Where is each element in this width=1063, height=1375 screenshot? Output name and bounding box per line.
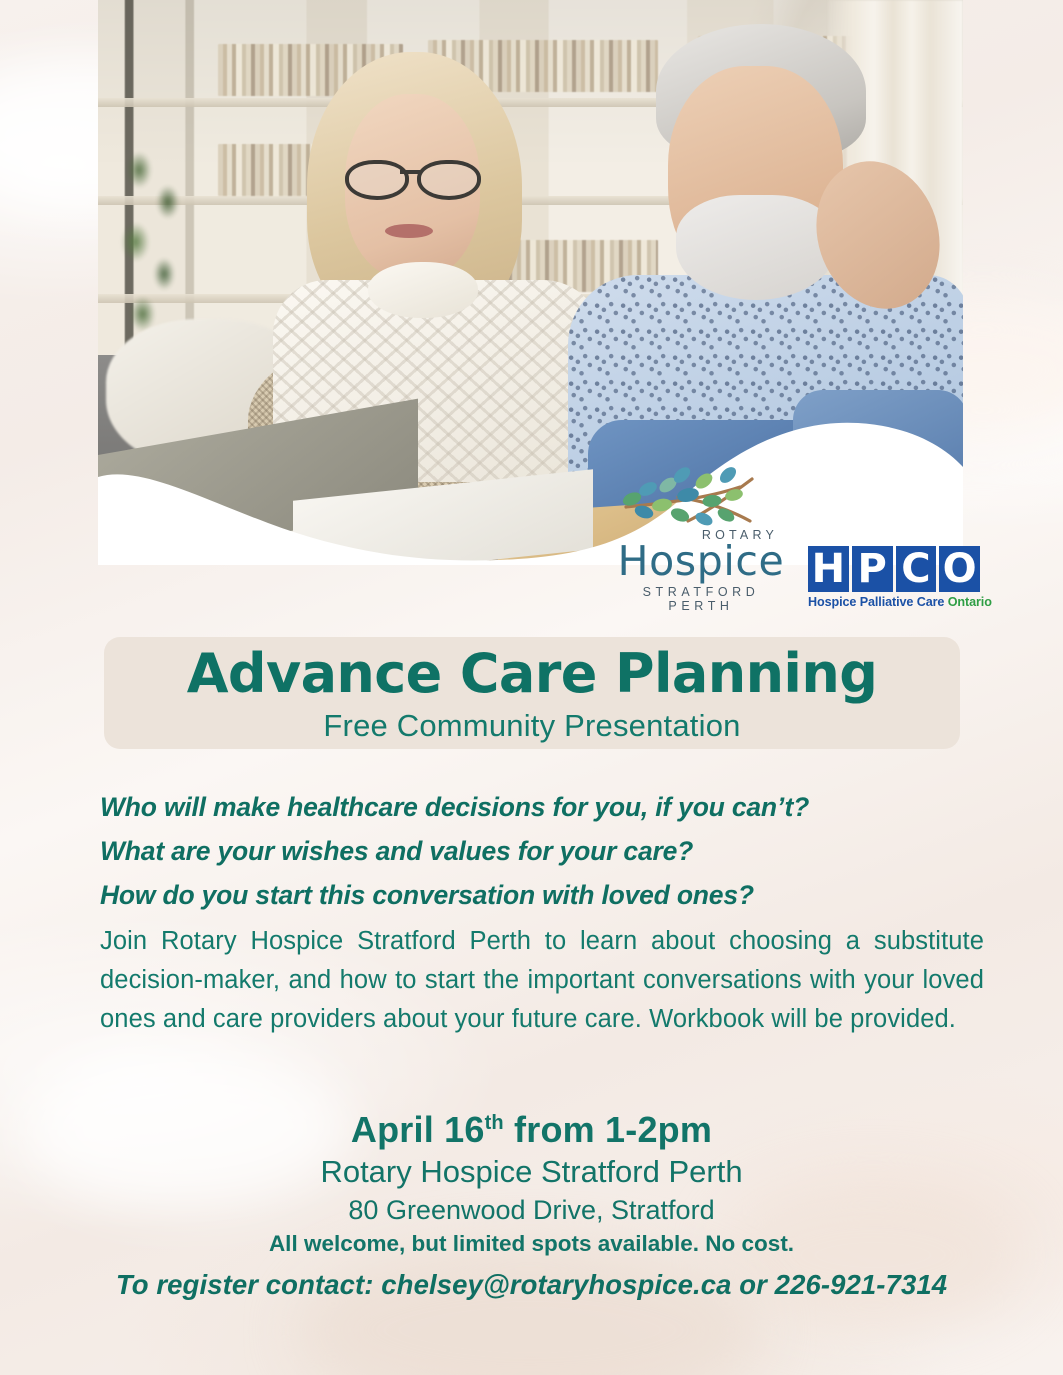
title-band: Advance Care Planning Free Community Pre… [104,637,960,749]
eyeglasses-icon [345,160,485,194]
hpco-letter-p: P [852,546,893,592]
question-list: Who will make healthcare decisions for y… [100,785,980,917]
page-subtitle: Free Community Presentation [323,710,740,741]
page-title: Advance Care Planning [187,647,878,701]
hospice-wordmark: Hospice [612,542,790,581]
question-line-1: Who will make healthcare decisions for y… [100,785,980,829]
hpco-letter-blocks: H P C O [808,546,980,592]
hpco-tagline: Hospice Palliative Care Ontario [808,595,980,609]
rotary-branch-leaves-icon [612,457,790,531]
logo-row: ROTARY Hospice STRATFORD PERTH H P C O H… [612,478,992,613]
event-note: All welcome, but limited spots available… [0,1228,1063,1260]
event-date-prefix: April 16 [351,1109,485,1150]
hpco-tagline-green: Ontario [948,595,992,609]
hpco-letter-h: H [808,546,849,592]
hpco-letter-c: C [896,546,937,592]
glasses-right-lens [417,160,481,200]
question-line-3: How do you start this conversation with … [100,873,980,917]
question-line-2: What are your wishes and values for your… [100,829,980,873]
event-date-ordinal: th [485,1112,504,1134]
hpco-letter-o: O [939,546,980,592]
rotary-hospice-logo: ROTARY Hospice STRATFORD PERTH [612,457,790,613]
stratford-perth-wordmark: STRATFORD PERTH [612,585,790,613]
event-time: from 1-2pm [504,1109,712,1150]
woman-mouth [385,224,433,238]
man-beard [676,195,836,300]
body-paragraph: Join Rotary Hospice Stratford Perth to l… [100,922,984,1039]
woman-collar [368,262,478,318]
event-date: April 16th from 1-2pm [0,1108,1063,1152]
contact-line: To register contact: chelsey@rotaryhospi… [0,1269,1063,1301]
poster-canvas: ROTARY Hospice STRATFORD PERTH H P C O H… [0,0,1063,1375]
decorative-cloud-5 [300,1245,760,1375]
event-details: April 16th from 1-2pm Rotary Hospice Str… [0,1108,1063,1260]
hpco-logo: H P C O Hospice Palliative Care Ontario [808,546,980,613]
event-venue: Rotary Hospice Stratford Perth [0,1152,1063,1192]
hpco-tagline-blue: Hospice Palliative Care [808,595,944,609]
event-address: 80 Greenwood Drive, Stratford [0,1192,1063,1228]
glasses-left-lens [345,160,409,200]
